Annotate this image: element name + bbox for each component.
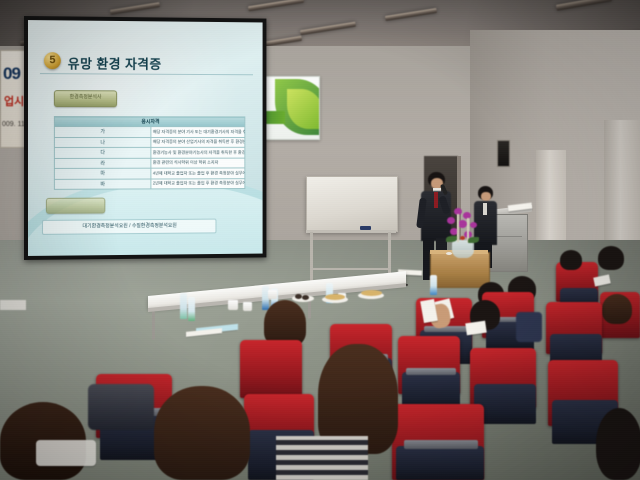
orchid-bloom: [458, 220, 467, 228]
audience-member: [560, 250, 582, 270]
seat[interactable]: [240, 340, 302, 398]
audience-member: [598, 246, 624, 270]
paper-cup: [228, 300, 238, 310]
water-bottle: [349, 284, 356, 303]
row-value: 해당 자격증의 분야 기사 또는 대기환경기사의 자격을 취득한 자: [150, 127, 244, 137]
row-key: 가: [54, 127, 150, 137]
table-row: 다 환경기능사 및 환경분야기능사의 자격을 취득한 후 환경측정분야 실무에서…: [54, 147, 244, 158]
table-leg: [152, 311, 155, 339]
audience-member: [602, 294, 632, 324]
snack-item: [302, 295, 309, 300]
pedestal-reflection: [446, 252, 452, 255]
projected-slide: 5 유망 환경 자격증 환경측정분석사 응시자격 가 해당 자격증의 분야 기사…: [28, 20, 263, 256]
handout: [36, 440, 96, 466]
draped-coat: [88, 384, 154, 430]
orchid-arrangement: [440, 206, 486, 258]
row-value: 해당 자격증의 분야 산업기사의 자격을 취득한 후 환경분야에서 2년 이상 …: [150, 137, 244, 147]
whiteboard-leg: [310, 232, 313, 284]
table-row: 라 환경 관련의 석사학위 이상 학위 소지자: [54, 158, 244, 169]
row-value: 2년제 대학교 졸업자 또는 졸업 후 환경 측정분야 실무에서 3년 이상 실…: [150, 178, 244, 189]
seat-armrest: [406, 368, 456, 375]
slide-badge-number: 5: [44, 52, 61, 69]
audience-member: [596, 408, 640, 480]
orchid-bloom: [447, 217, 455, 224]
table-row: 마 4년제 대학교 졸업자 또는 졸업 후 환경 측정분야 실무에서 1년 이상…: [54, 168, 244, 179]
orchid-accent-flower: [460, 236, 465, 240]
side-table: [0, 300, 26, 310]
water-bottle: [180, 293, 187, 319]
wall-speaker-icon: [497, 140, 510, 167]
slide-lower-pill: [46, 198, 105, 214]
snack-item: [361, 290, 382, 296]
moderator-face: [481, 192, 491, 201]
table-row: 바 2년제 대학교 졸업자 또는 졸업 후 환경 측정분야 실무에서 3년 이상…: [54, 178, 244, 189]
row-key: 나: [54, 137, 150, 147]
banner-left-line1: 09: [3, 65, 20, 82]
row-key: 바: [54, 179, 150, 190]
water-bottle: [430, 275, 437, 295]
table-row: 나 해당 자격증의 분야 산업기사의 자격을 취득한 후 환경분야에서 2년 이…: [54, 137, 244, 147]
row-key: 라: [54, 158, 150, 169]
audience-member: [154, 386, 250, 480]
audience-member: [516, 312, 542, 342]
seat-armrest: [404, 440, 478, 449]
orchid-leaf: [446, 236, 457, 242]
whiteboard-tray: [306, 230, 396, 233]
audience-striped-top: [276, 436, 368, 480]
seat-cushion[interactable]: [396, 446, 484, 480]
whiteboard-unit: [300, 176, 396, 288]
water-bottle: [188, 297, 195, 321]
projection-screen: 5 유망 환경 자격증 환경측정분석사 응시자격 가 해당 자격증의 분야 기사…: [24, 16, 266, 260]
orchid-leaf: [468, 237, 479, 243]
snack-item: [295, 294, 302, 299]
whiteboard-crossbar: [310, 268, 390, 270]
slide-eligibility-table: 응시자격 가 해당 자격증의 분야 기사 또는 대기환경기사의 자격을 취득한 …: [54, 116, 245, 190]
slide-pill-label: 환경측정분석사: [54, 90, 117, 107]
slide-title: 유망 환경 자격증: [68, 53, 162, 72]
row-key: 다: [54, 147, 150, 158]
row-value: 4년제 대학교 졸업자 또는 졸업 후 환경 측정분야 실무에서 1년 이상 실…: [150, 168, 244, 179]
banner-left-line2: 업시: [4, 97, 24, 108]
presenter-necktie: [434, 192, 438, 208]
seat-armrest: [424, 326, 468, 332]
slide-content: 5 유망 환경 자격증 환경측정분석사 응시자격 가 해당 자격증의 분야 기사…: [28, 20, 263, 256]
whiteboard-surface: [306, 176, 398, 232]
table-header-cell: 응시자격: [54, 117, 244, 127]
row-value: 환경기능사 및 환경분야기능사의 자격을 취득한 후 환경측정분야 실무에서 3…: [150, 147, 244, 157]
orchid-bloom: [470, 222, 477, 228]
paper-cup: [243, 302, 252, 311]
table-row: 가 해당 자격증의 분야 기사 또는 대기환경기사의 자격을 취득한 자: [54, 127, 244, 137]
seminar-room-photo: 09 업시 009. 11. 수회 전략토론 환경정책과 5 유망 환경 자격증…: [0, 0, 640, 480]
orchid-stem: [457, 214, 459, 242]
paper-cup: [268, 290, 277, 299]
row-value: 환경 관련의 석사학위 이상 학위 소지자: [150, 158, 244, 169]
snack-item: [325, 294, 345, 300]
row-key: 마: [54, 168, 150, 179]
slide-footer-caption: 대기환경측정분석요원 / 수질환경측정분석요원: [42, 219, 216, 235]
